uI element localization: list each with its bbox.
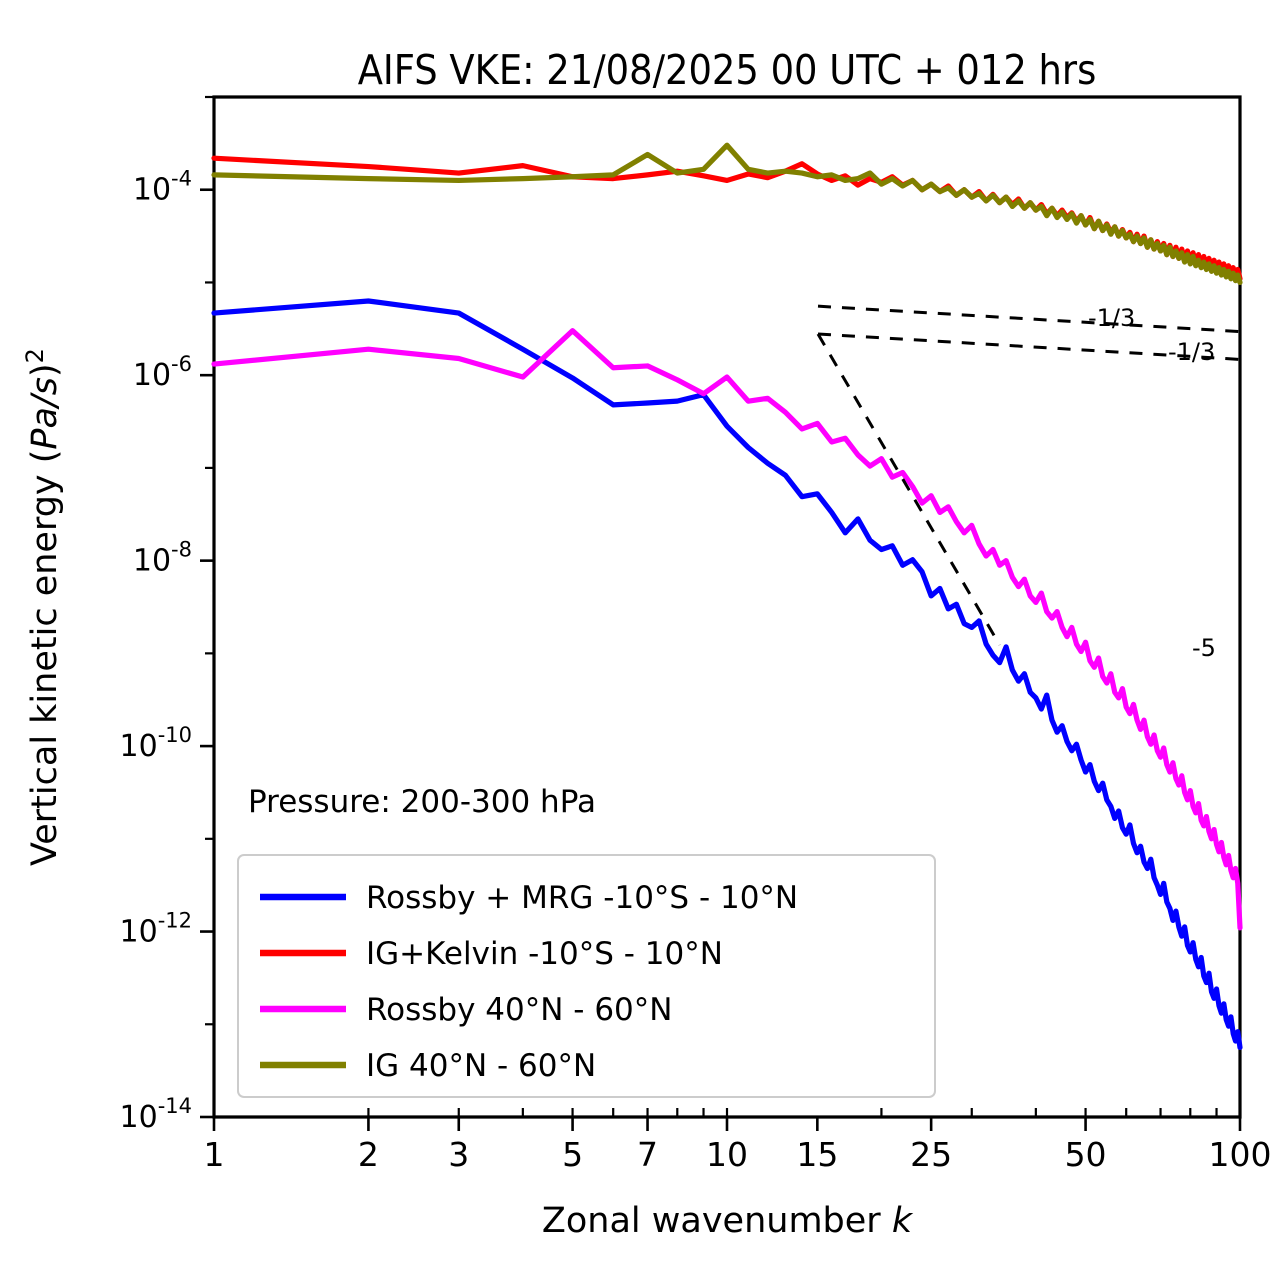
x-tick-label: 100 <box>1209 1135 1272 1174</box>
figure-canvas: AIFS VKE: 21/08/2025 00 UTC + 012 hrs 12… <box>0 0 1280 1288</box>
slope-reference-lines: -1/3-1/3-5 <box>818 304 1240 662</box>
x-tick-label: 25 <box>910 1135 952 1174</box>
x-tick-label: 1 <box>204 1135 225 1174</box>
y-tick-mantissa: 10 <box>133 544 171 579</box>
x-tick-label: 3 <box>448 1135 469 1174</box>
y-tick-mantissa: 10 <box>133 358 171 393</box>
reference-line-slope-upper <box>818 306 1240 331</box>
y-tick-exponent: -6 <box>171 352 192 376</box>
y-tick-mantissa: 10 <box>120 729 158 764</box>
vke-spectrum-chart: AIFS VKE: 21/08/2025 00 UTC + 012 hrs 12… <box>0 0 1280 1288</box>
x-axis-label-text: Zonal wavenumber <box>542 1201 892 1241</box>
y-tick-mantissa: 10 <box>120 1100 158 1135</box>
y-tick-mantissa: 10 <box>133 173 171 208</box>
x-tick-label: 50 <box>1065 1135 1107 1174</box>
chart-title: AIFS VKE: 21/08/2025 00 UTC + 012 hrs <box>358 46 1097 94</box>
legend-label-ig_midlat: IG 40°N - 60°N <box>366 1048 596 1084</box>
reference-label-slope-lower: -1/3 <box>1168 338 1215 366</box>
y-tick-label: 10-14 <box>120 1094 193 1135</box>
pressure-annotation: Pressure: 200-300 hPa <box>248 784 596 820</box>
x-tick-label: 7 <box>637 1135 658 1174</box>
chart-title-group: AIFS VKE: 21/08/2025 00 UTC + 012 hrs <box>358 46 1097 94</box>
y-tick-exponent: -14 <box>158 1094 192 1118</box>
legend-label-rossby_midlat: Rossby 40°N - 60°N <box>366 992 672 1028</box>
y-tick-exponent: -8 <box>171 538 192 562</box>
x-axis-label: Zonal wavenumber k <box>542 1201 914 1241</box>
x-tick-label: 2 <box>358 1135 379 1174</box>
y-tick-exponent: -4 <box>171 167 192 191</box>
y-axis-label-exponent: 2 <box>21 348 49 363</box>
y-tick-exponent: -12 <box>158 909 192 933</box>
y-axis-label-tail: ) <box>25 363 65 377</box>
y-axis-label: Vertical kinetic energy (Pa/s)2 <box>21 348 65 866</box>
y-axis-label-units: Pa/s <box>25 377 65 450</box>
y-tick-mantissa: 10 <box>120 915 158 950</box>
legend-label-rossby_mrg_tropics: Rossby + MRG -10°S - 10°N <box>366 880 798 916</box>
x-tick-label: 15 <box>796 1135 838 1174</box>
y-tick-label: 10-4 <box>133 167 192 208</box>
y-tick-label: 10-12 <box>120 909 193 950</box>
x-tick-label: 10 <box>706 1135 748 1174</box>
y-tick-exponent: -10 <box>158 723 192 747</box>
y-axis-label-text: Vertical kinetic energy ( <box>25 450 65 866</box>
legend-label-ig_kelvin_tropics: IG+Kelvin -10°S - 10°N <box>366 936 723 972</box>
y-tick-label: 10-6 <box>133 352 192 393</box>
y-tick-label: 10-10 <box>120 723 193 764</box>
x-tick-label: 5 <box>562 1135 583 1174</box>
reference-line-slope-minus5 <box>818 334 1000 645</box>
reference-label-slope-minus5: -5 <box>1192 634 1216 662</box>
x-axis-label-symbol: k <box>892 1201 914 1241</box>
y-tick-label: 10-8 <box>133 538 192 579</box>
series-line-rossby_midlat <box>214 331 1240 928</box>
chart-legend: Rossby + MRG -10°S - 10°NIG+Kelvin -10°S… <box>238 855 935 1097</box>
reference-label-slope-upper: -1/3 <box>1088 304 1135 332</box>
